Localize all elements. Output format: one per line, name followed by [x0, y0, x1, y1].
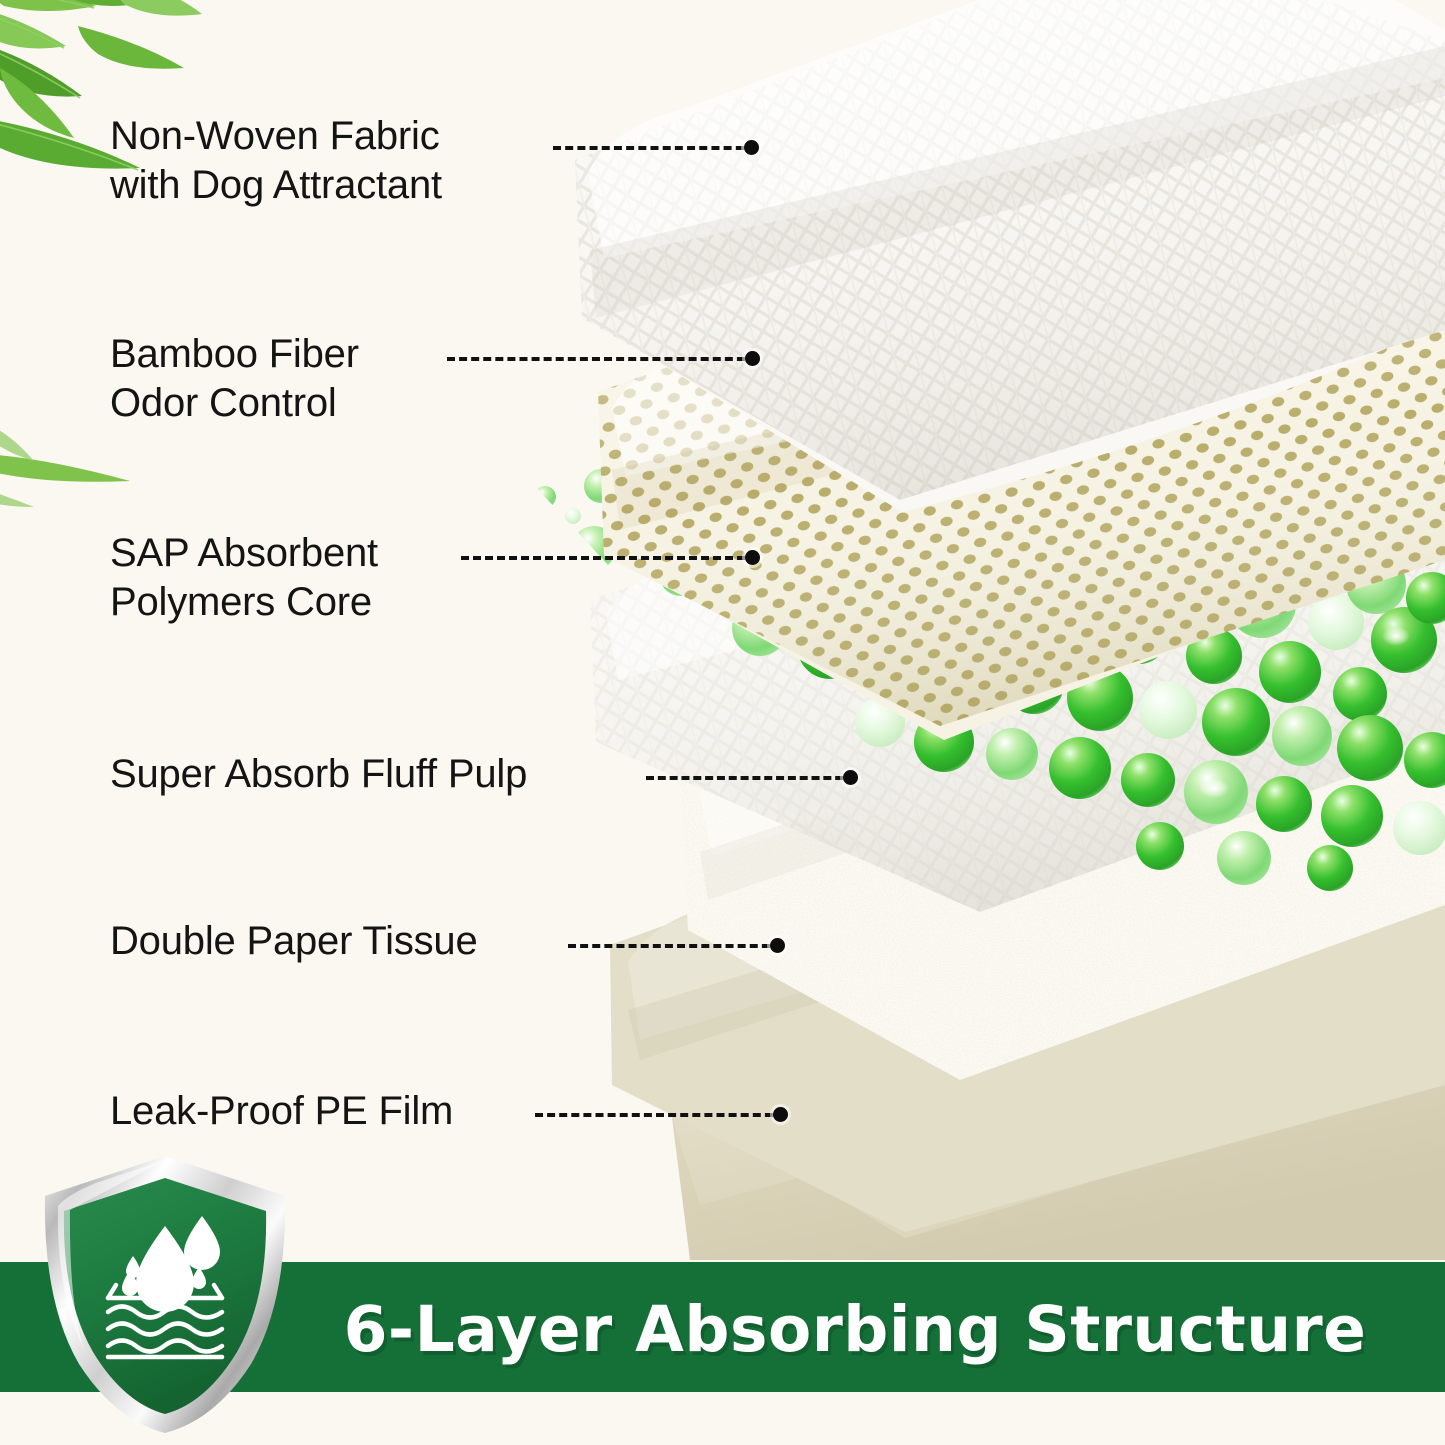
callout-label-sap-absorbent-polymers: SAP Absorbent Polymers Core — [110, 529, 378, 627]
product-infographic: Non-Woven Fabric with Dog Attractant Bam… — [0, 0, 1445, 1445]
banner-title: 6-Layer Absorbing Structure — [285, 1286, 1425, 1372]
callout-label-double-paper-tissue: Double Paper Tissue — [110, 917, 478, 966]
callout-label-non-woven-fabric: Non-Woven Fabric with Dog Attractant — [110, 112, 442, 210]
callout-label-bamboo-fiber: Bamboo Fiber Odor Control — [110, 330, 359, 428]
waterproof-shield-badge — [36, 1152, 294, 1437]
callout-label-super-absorb-fluff-pulp: Super Absorb Fluff Pulp — [110, 750, 527, 799]
callout-label-leak-proof-pe-film: Leak-Proof PE Film — [110, 1087, 453, 1136]
